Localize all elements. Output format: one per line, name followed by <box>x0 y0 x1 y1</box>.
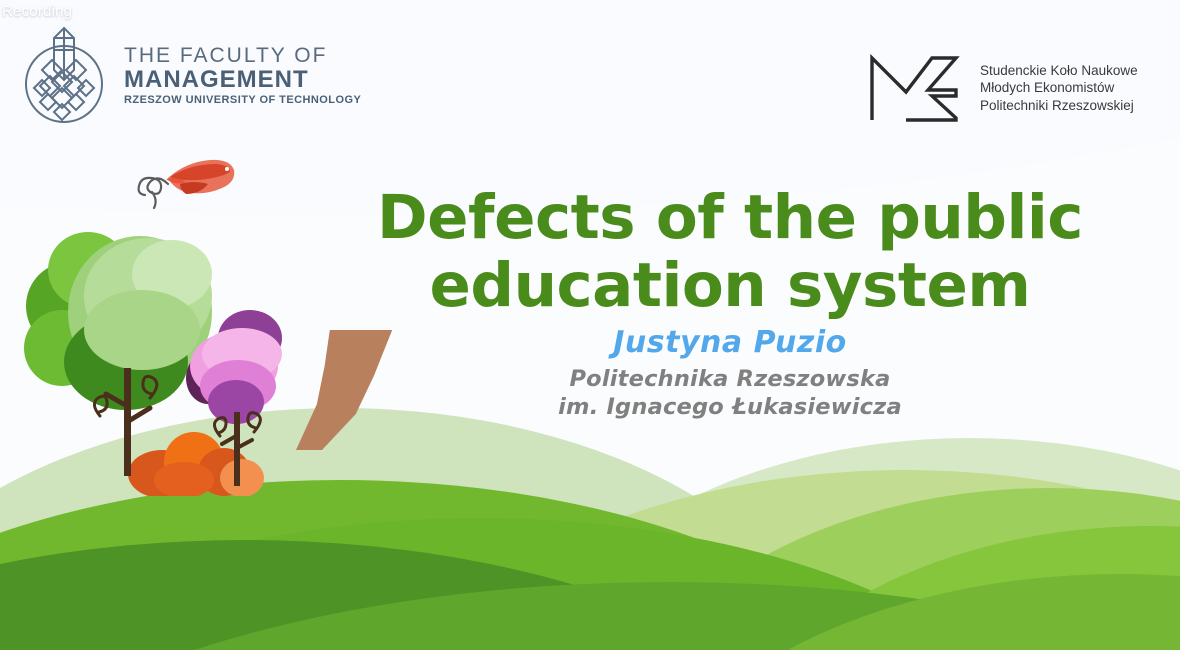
presenter-name: Justyna Puzio <box>330 325 1130 360</box>
flying-bird-illustration <box>160 152 240 202</box>
affiliation-line1: Politechnika Rzeszowska <box>330 365 1130 393</box>
slide-title: Defects of the public education system <box>330 188 1130 316</box>
presenter-affiliation: Politechnika Rzeszowska im. Ignacego Łuk… <box>330 365 1130 421</box>
skn-logo-line1: Studenckie Koło Naukowe <box>980 62 1138 79</box>
skn-logo-line2: Młodych Ekonomistów <box>980 79 1138 96</box>
presentation-slide: THE FACULTY OF MANAGEMENT RZESZOW UNIVER… <box>0 0 1180 650</box>
me-monogram-icon <box>866 52 962 124</box>
slide-title-line2: education system <box>330 256 1130 316</box>
affiliation-line2: im. Ignacego Łukasiewicza <box>330 393 1130 421</box>
faculty-logo: THE FACULTY OF MANAGEMENT RZESZOW UNIVER… <box>18 26 361 126</box>
faculty-logo-line1: THE FACULTY OF <box>124 45 361 66</box>
skn-logo: Studenckie Koło Naukowe Młodych Ekonomis… <box>866 52 1138 124</box>
title-block: Defects of the public education system J… <box>330 188 1130 421</box>
skn-logo-line3: Politechniki Rzeszowskiej <box>980 97 1138 114</box>
recording-indicator: Recording <box>2 3 72 20</box>
slide-title-line1: Defects of the public <box>377 182 1083 253</box>
purple-tree-illustration <box>178 308 308 488</box>
faculty-crest-icon <box>18 26 110 126</box>
faculty-logo-line3: RZESZOW UNIVERSITY OF TECHNOLOGY <box>124 95 361 106</box>
decorative-swirl-icon <box>122 170 172 212</box>
faculty-logo-line2: MANAGEMENT <box>124 68 361 92</box>
